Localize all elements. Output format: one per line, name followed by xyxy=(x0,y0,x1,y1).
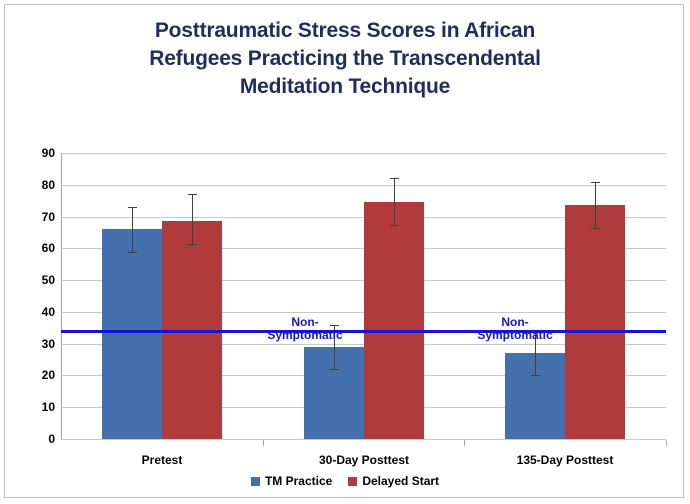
x-axis-tick xyxy=(263,440,264,446)
non-symptomatic-label-line-2: Symptomatic xyxy=(467,329,563,342)
legend-item-delayed-start[interactable]: Delayed Start xyxy=(348,475,439,487)
y-axis-line xyxy=(61,153,62,440)
y-axis-tick-labels: 0102030405060708090 xyxy=(5,153,55,439)
y-axis-tick-label: 20 xyxy=(13,369,55,381)
non-symptomatic-label-line-2: Symptomatic xyxy=(257,329,353,342)
chart-title-line-3: Meditation Technique xyxy=(5,73,685,101)
error-bar-cap-upper xyxy=(591,182,600,183)
error-bar-cap-lower xyxy=(531,375,540,376)
x-axis-category-labels: Pretest30-Day Posttest135-Day Posttest xyxy=(61,453,666,471)
error-bar xyxy=(394,178,395,225)
plot-area: Non-SymptomaticNon-Symptomatic xyxy=(61,153,666,439)
error-bar-cap-lower xyxy=(188,244,197,245)
error-bar xyxy=(192,194,193,244)
y-axis-tick-label: 60 xyxy=(13,242,55,254)
y-axis-tick-label: 30 xyxy=(13,338,55,350)
error-bar xyxy=(132,207,133,252)
non-symptomatic-threshold-line xyxy=(61,330,666,333)
chart-title-line-2: Refugees Practicing the Transcendental xyxy=(5,45,685,73)
error-bar xyxy=(595,182,596,228)
legend-label: TM Practice xyxy=(265,475,332,487)
legend-label: Delayed Start xyxy=(362,475,439,487)
error-bar-cap-lower xyxy=(128,252,137,253)
x-axis-label-135-day-posttest: 135-Day Posttest xyxy=(464,453,666,467)
error-bar-cap-upper xyxy=(188,194,197,195)
gridline xyxy=(61,153,666,154)
chart-frame: Posttraumatic Stress Scores in African R… xyxy=(4,4,684,498)
chart-title: Posttraumatic Stress Scores in African R… xyxy=(5,17,685,101)
error-bar-cap-upper xyxy=(390,178,399,179)
chart-title-line-1: Posttraumatic Stress Scores in African xyxy=(5,17,685,45)
y-axis-tick-label: 40 xyxy=(13,306,55,318)
legend-swatch-icon xyxy=(251,477,260,486)
x-axis-tick xyxy=(666,440,667,446)
y-axis-tick-label: 80 xyxy=(13,179,55,191)
non-symptomatic-label: Non-Symptomatic xyxy=(257,316,353,342)
y-axis-tick-label: 70 xyxy=(13,211,55,223)
error-bar-cap-upper xyxy=(128,207,137,208)
gridline xyxy=(61,439,666,440)
chart-legend: TM PracticeDelayed Start xyxy=(5,475,685,487)
error-bar-cap-lower xyxy=(591,228,600,229)
y-axis-tick-label: 10 xyxy=(13,401,55,413)
y-axis-tick-label: 90 xyxy=(13,147,55,159)
error-bar-cap-lower xyxy=(330,369,339,370)
gridline xyxy=(61,185,666,186)
error-bar-cap-lower xyxy=(390,225,399,226)
legend-swatch-icon xyxy=(348,477,357,486)
y-axis-tick-label: 0 xyxy=(13,433,55,445)
bar[interactable] xyxy=(102,229,162,439)
non-symptomatic-label: Non-Symptomatic xyxy=(467,316,563,342)
bar[interactable] xyxy=(565,205,625,439)
x-axis-tick xyxy=(464,440,465,446)
x-axis-label-pretest: Pretest xyxy=(61,453,263,467)
legend-item-tm-practice[interactable]: TM Practice xyxy=(251,475,332,487)
x-axis-label-30-day-posttest: 30-Day Posttest xyxy=(263,453,465,467)
bar[interactable] xyxy=(364,202,424,439)
y-axis-tick-label: 50 xyxy=(13,274,55,286)
